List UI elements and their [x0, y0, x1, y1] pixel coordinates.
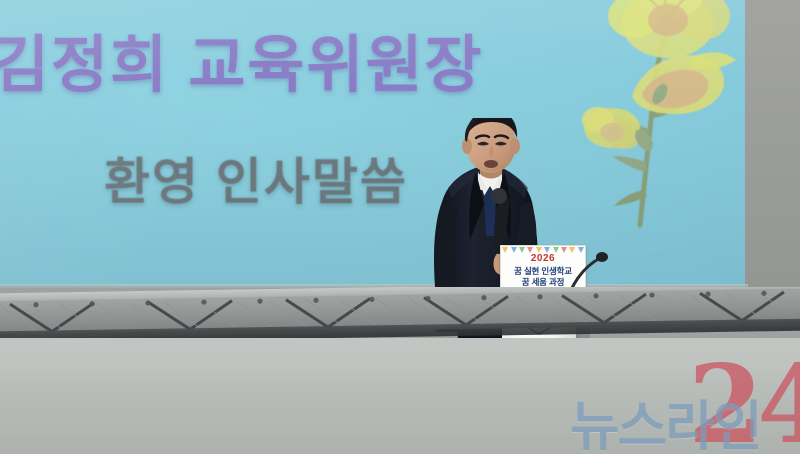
floor-reflection: [0, 338, 800, 454]
slide-title: 김정희 교육위원장: [0, 14, 592, 104]
stage-truss: [0, 287, 800, 343]
wall-right-panel: [744, 0, 800, 292]
screenshot-root: 김정희 교육위원장 환영 인사말씀: [0, 0, 800, 454]
projection-screen: 김정희 교육위원장 환영 인사말씀: [0, 0, 745, 288]
